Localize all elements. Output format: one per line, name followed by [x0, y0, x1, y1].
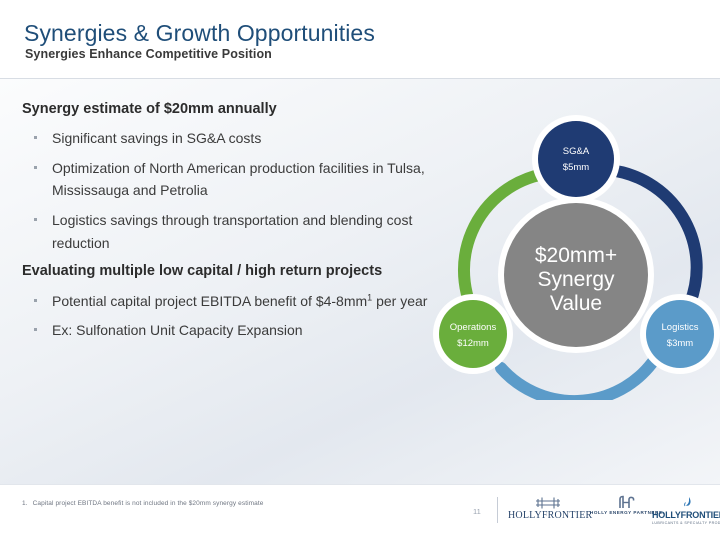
hollyfrontier-lubricants-wordmark: HOLLYFRONTIER	[652, 510, 720, 520]
list-item: Ex: Sulfonation Unit Capacity Expansion	[22, 319, 442, 342]
hollyfrontier-mark-icon	[508, 495, 588, 510]
bullet-list-2: Potential capital project EBITDA benefit…	[22, 290, 442, 342]
node-operations-value: $12mm	[457, 338, 489, 349]
lead-statement-2: Evaluating multiple low capital / high r…	[22, 262, 442, 280]
node-operations-label: Operations	[450, 322, 497, 333]
list-item-label-pre: Potential capital project EBITDA benefit…	[52, 293, 367, 309]
content-text-column: Synergy estimate of $20mm annually Signi…	[22, 100, 442, 350]
bullet-dot-icon	[34, 328, 37, 331]
slide: Synergies & Growth Opportunities Synergi…	[0, 0, 720, 540]
center-label-line-3: Value	[550, 292, 602, 315]
page-title: Synergies & Growth Opportunities	[24, 20, 375, 47]
lubricants-droplet-icon	[652, 495, 720, 510]
footnote-number: 1.	[22, 500, 28, 507]
list-item: Logistics savings through transportation…	[22, 209, 442, 254]
slide-footer: 1.Capital project EBITDA benefit is not …	[0, 485, 720, 540]
logo-hollyfrontier-lubricants: HOLLYFRONTIER LUBRICANTS & SPECIALTY PRO…	[652, 495, 720, 525]
page-subtitle: Synergies Enhance Competitive Position	[25, 47, 272, 61]
node-logistics-label: Logistics	[662, 322, 699, 333]
list-item: Significant savings in SG&A costs	[22, 127, 442, 150]
node-sga-circle[interactable]	[538, 121, 614, 197]
node-sga-value: $5mm	[563, 162, 589, 173]
node-logistics-circle[interactable]	[646, 300, 714, 368]
list-item: Optimization of North American productio…	[22, 157, 442, 202]
page-number: 11	[473, 507, 481, 516]
bullet-list-1: Significant savings in SG&A costs Optimi…	[22, 127, 442, 254]
footnote: 1.Capital project EBITDA benefit is not …	[22, 500, 264, 507]
bullet-dot-icon	[34, 299, 37, 302]
list-item-label: Significant savings in SG&A costs	[52, 130, 261, 146]
center-label-line-1: $20mm+	[535, 244, 617, 267]
node-operations-circle[interactable]	[439, 300, 507, 368]
footnote-text: Capital project EBITDA benefit is not in…	[33, 500, 264, 507]
synergy-value-diagram: $20mm+ Synergy Value SG&A $5mm Operation…	[420, 110, 720, 400]
footer-vertical-divider	[497, 497, 498, 523]
list-item-label: Logistics savings through transportation…	[52, 212, 412, 251]
bullet-dot-icon	[34, 166, 37, 169]
center-label-line-2: Synergy	[537, 268, 615, 291]
arc-operations-logistics	[501, 363, 652, 400]
bullet-dot-icon	[34, 218, 37, 221]
list-item-label: Ex: Sulfonation Unit Capacity Expansion	[52, 322, 303, 338]
list-item-label: Optimization of North American productio…	[52, 160, 425, 199]
list-item: Potential capital project EBITDA benefit…	[22, 290, 442, 313]
bullet-dot-icon	[34, 136, 37, 139]
logo-hollyfrontier: HOLLYFRONTIER	[508, 495, 588, 521]
lead-statement-1: Synergy estimate of $20mm annually	[22, 100, 442, 118]
node-sga-label: SG&A	[563, 146, 590, 157]
slide-header: Synergies & Growth Opportunities Synergi…	[0, 0, 720, 78]
node-logistics-value: $3mm	[667, 338, 693, 349]
hollyfrontier-wordmark: HOLLYFRONTIER	[508, 510, 588, 521]
hollyfrontier-lubricants-tagline: LUBRICANTS & SPECIALTY PRODUCTS	[652, 521, 720, 525]
